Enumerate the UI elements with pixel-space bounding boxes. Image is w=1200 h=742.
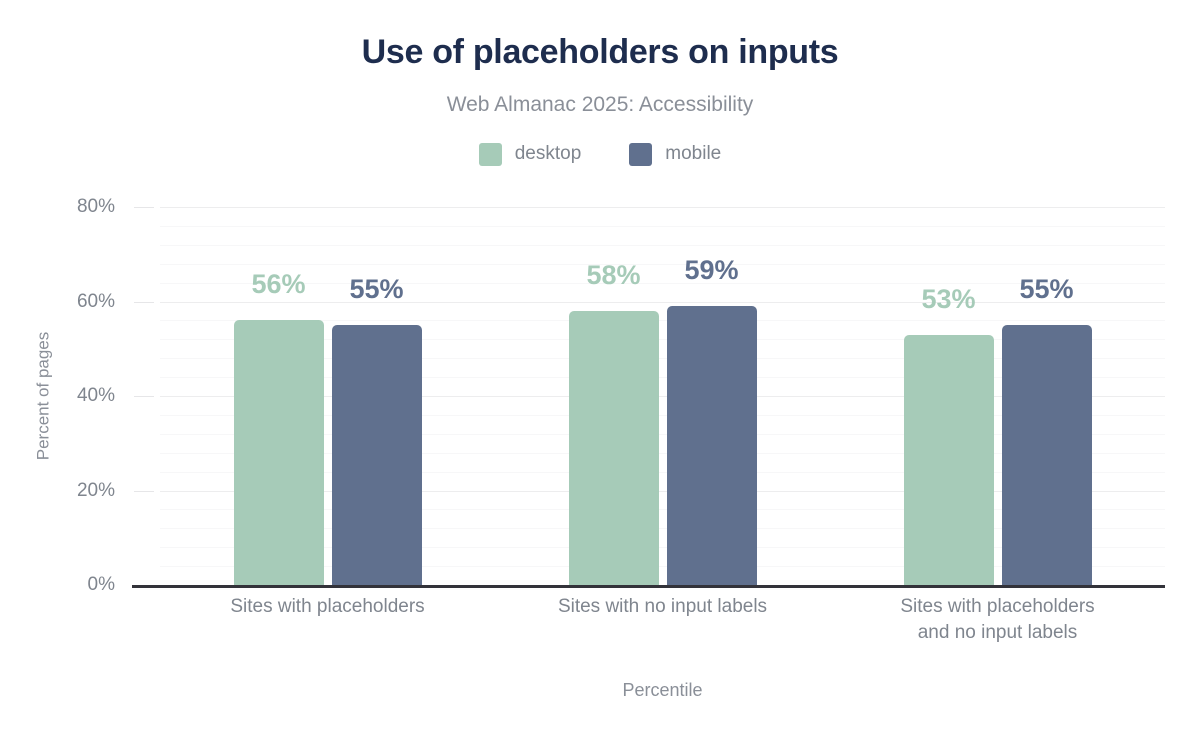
bar-group-bars: 56%55% — [160, 207, 495, 585]
bar-rect-mobile[interactable] — [1002, 325, 1092, 585]
plot-area: 56%55%58%59%53%55% 0%20%40%60%80% — [160, 207, 1165, 585]
y-axis-tick-label: 0% — [0, 574, 115, 596]
bar-value-label: 55% — [307, 273, 447, 305]
y-axis-tick-mark — [134, 396, 154, 397]
bar-desktop[interactable]: 56% — [234, 207, 324, 585]
y-axis-tick-mark — [134, 207, 154, 208]
bar-group: 56%55% — [160, 207, 495, 585]
y-axis-tick-label: 20% — [0, 480, 115, 502]
x-axis-labels: Sites with placeholdersSites with no inp… — [160, 594, 1165, 646]
legend-item-mobile[interactable]: mobile — [629, 142, 721, 166]
bar-rect-mobile[interactable] — [667, 306, 757, 585]
x-axis-category-label: Sites with placeholders and no input lab… — [830, 594, 1165, 646]
bar-rect-mobile[interactable] — [332, 325, 422, 585]
bar-rect-desktop[interactable] — [904, 335, 994, 585]
legend-swatch-mobile — [629, 143, 652, 166]
bar-mobile[interactable]: 59% — [667, 207, 757, 585]
bar-group-bars: 58%59% — [495, 207, 830, 585]
bar-value-label: 55% — [977, 273, 1117, 305]
bar-mobile[interactable]: 55% — [1002, 207, 1092, 585]
x-axis-baseline — [132, 585, 1165, 588]
legend-swatch-desktop — [479, 143, 502, 166]
x-axis-category-label: Sites with no input labels — [495, 594, 830, 646]
bar-group-bars: 53%55% — [830, 207, 1165, 585]
chart-subtitle: Web Almanac 2025: Accessibility — [0, 90, 1200, 120]
legend-label-desktop: desktop — [515, 142, 582, 166]
bar-mobile[interactable]: 55% — [332, 207, 422, 585]
bar-rect-desktop[interactable] — [569, 311, 659, 585]
bar-group: 58%59% — [495, 207, 830, 585]
chart-container: Use of placeholders on inputs Web Almana… — [0, 0, 1200, 742]
bar-group: 53%55% — [830, 207, 1165, 585]
y-axis-tick-mark — [134, 491, 154, 492]
bar-desktop[interactable]: 53% — [904, 207, 994, 585]
y-axis-tick-label: 60% — [0, 291, 115, 313]
x-axis-category-label: Sites with placeholders — [160, 594, 495, 646]
y-axis-tick-mark — [134, 302, 154, 303]
bar-value-label: 59% — [642, 254, 782, 286]
chart-title: Use of placeholders on inputs — [0, 30, 1200, 74]
legend-label-mobile: mobile — [665, 142, 721, 166]
bar-groups: 56%55%58%59%53%55% — [160, 207, 1165, 585]
legend-item-desktop[interactable]: desktop — [479, 142, 582, 166]
chart-legend: desktop mobile — [0, 142, 1200, 166]
y-axis-tick-label: 40% — [0, 385, 115, 407]
x-axis-title: Percentile — [160, 678, 1165, 702]
y-axis-tick-label: 80% — [0, 196, 115, 218]
bar-rect-desktop[interactable] — [234, 320, 324, 585]
